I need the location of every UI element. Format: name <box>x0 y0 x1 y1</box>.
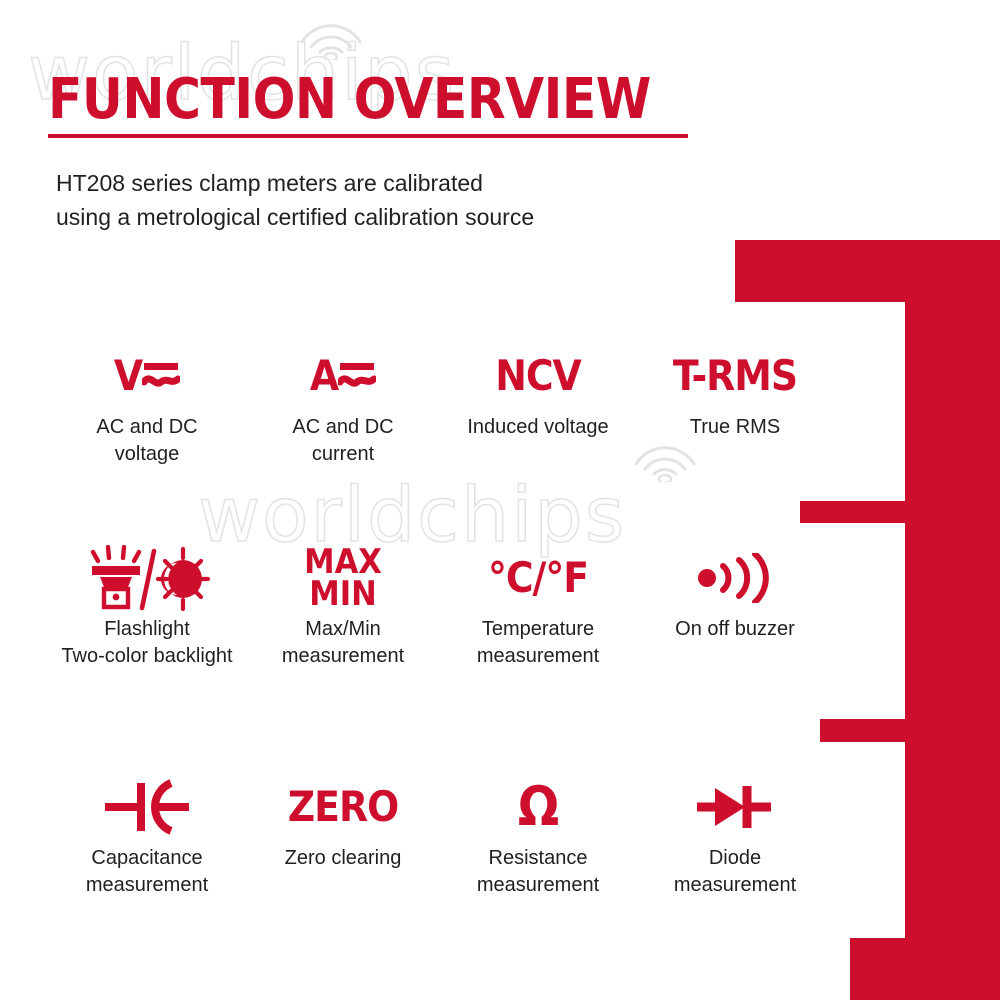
decorative-red-prong-lower <box>820 719 915 742</box>
caption-line-1: Resistance <box>440 845 636 872</box>
feature-flashlight-backlight: Flashlight Two-color backlight <box>52 546 242 670</box>
feature-zero-clearing: ZERO Zero clearing <box>248 775 438 872</box>
feature-true-rms: T-RMS True RMS <box>640 344 830 441</box>
infographic-page: worldchips worldchips FUNCTION OVERVIEW … <box>0 0 1000 1000</box>
ac-dc-sign-icon <box>338 356 376 396</box>
feature-caption: True RMS <box>640 414 830 441</box>
feature-resistance: Ω Resistance measurement <box>440 775 636 899</box>
caption-line-2: measurement <box>248 643 438 670</box>
caption-line-1: AC and DC <box>52 414 242 441</box>
wifi-arcs-icon <box>296 2 366 60</box>
ohm-symbol-text: Ω <box>518 780 558 834</box>
feature-capacitance: Capacitance measurement <box>52 775 242 899</box>
feature-caption: Resistance measurement <box>440 845 636 899</box>
feature-caption: AC and DC current <box>248 414 438 468</box>
decorative-red-spine <box>905 240 1000 1000</box>
feature-caption: Capacitance measurement <box>52 845 242 899</box>
zero-text-icon: ZERO <box>248 775 438 839</box>
caption-line-1: Capacitance <box>52 845 242 872</box>
page-title: FUNCTION OVERVIEW <box>48 72 651 128</box>
ohm-icon: Ω <box>440 775 636 839</box>
caption-line-1: AC and DC <box>248 414 438 441</box>
caption-line-1: Flashlight <box>52 616 242 643</box>
feature-buzzer: On off buzzer <box>640 546 830 643</box>
decorative-red-foot <box>850 938 1000 1000</box>
feature-diode: Diode measurement <box>640 775 830 899</box>
feature-temperature: °C/°F Temperature measurement <box>440 546 636 670</box>
caption-line-2: voltage <box>52 441 242 468</box>
page-subtitle: HT208 series clamp meters are calibrated… <box>56 166 534 234</box>
ncv-symbol-text: NCV <box>495 355 581 397</box>
ac-dc-sign-icon <box>142 356 180 396</box>
caption-line-1: Temperature <box>440 616 636 643</box>
decorative-red-prong-top <box>735 240 915 302</box>
capacitor-icon <box>52 775 242 839</box>
voltage-symbol-letter: V <box>114 355 142 397</box>
feature-caption: Flashlight Two-color backlight <box>52 616 242 670</box>
diode-icon <box>640 775 830 839</box>
caption-line-1: Diode <box>640 845 830 872</box>
caption-line-2: current <box>248 441 438 468</box>
buzzer-sound-icon <box>640 546 830 610</box>
caption-line-1: Zero clearing <box>248 845 438 872</box>
feature-ncv: NCV Induced voltage <box>440 344 636 441</box>
feature-caption: Temperature measurement <box>440 616 636 670</box>
feature-caption: Zero clearing <box>248 845 438 872</box>
feature-caption: Max/Min measurement <box>248 616 438 670</box>
feature-max-min: MAX MIN Max/Min measurement <box>248 546 438 670</box>
feature-caption: Diode measurement <box>640 845 830 899</box>
ac-dc-voltage-icon: V <box>52 344 242 408</box>
caption-line-2: measurement <box>52 872 242 899</box>
caption-line-1: Induced voltage <box>440 414 636 441</box>
feature-ac-dc-current: A AC and DC current <box>248 344 438 468</box>
feature-caption: On off buzzer <box>640 616 830 643</box>
caption-line-2: measurement <box>640 872 830 899</box>
subtitle-line-1: HT208 series clamp meters are calibrated <box>56 166 534 200</box>
title-underline-rule <box>48 134 688 138</box>
true-rms-symbol-text: T-RMS <box>673 355 797 397</box>
feature-ac-dc-voltage: V AC and DC voltage <box>52 344 242 468</box>
true-rms-text-icon: T-RMS <box>640 344 830 408</box>
min-symbol-text: MIN <box>304 578 382 610</box>
caption-line-1: On off buzzer <box>640 616 830 643</box>
caption-line-2: Two-color backlight <box>52 643 242 670</box>
ncv-text-icon: NCV <box>440 344 636 408</box>
caption-line-1: Max/Min <box>248 616 438 643</box>
max-min-text-icon: MAX MIN <box>248 546 438 610</box>
celsius-fahrenheit-icon: °C/°F <box>440 546 636 610</box>
current-symbol-letter: A <box>310 355 338 397</box>
flashlight-sun-icon <box>52 546 242 610</box>
zero-symbol-text: ZERO <box>288 786 398 828</box>
feature-caption: Induced voltage <box>440 414 636 441</box>
subtitle-line-2: using a metrological certified calibrati… <box>56 200 534 234</box>
feature-caption: AC and DC voltage <box>52 414 242 468</box>
caption-line-2: measurement <box>440 643 636 670</box>
temperature-symbol-text: °C/°F <box>488 557 588 599</box>
decorative-red-prong-middle <box>800 501 915 523</box>
caption-line-2: measurement <box>440 872 636 899</box>
caption-line-1: True RMS <box>640 414 830 441</box>
ac-dc-current-icon: A <box>248 344 438 408</box>
